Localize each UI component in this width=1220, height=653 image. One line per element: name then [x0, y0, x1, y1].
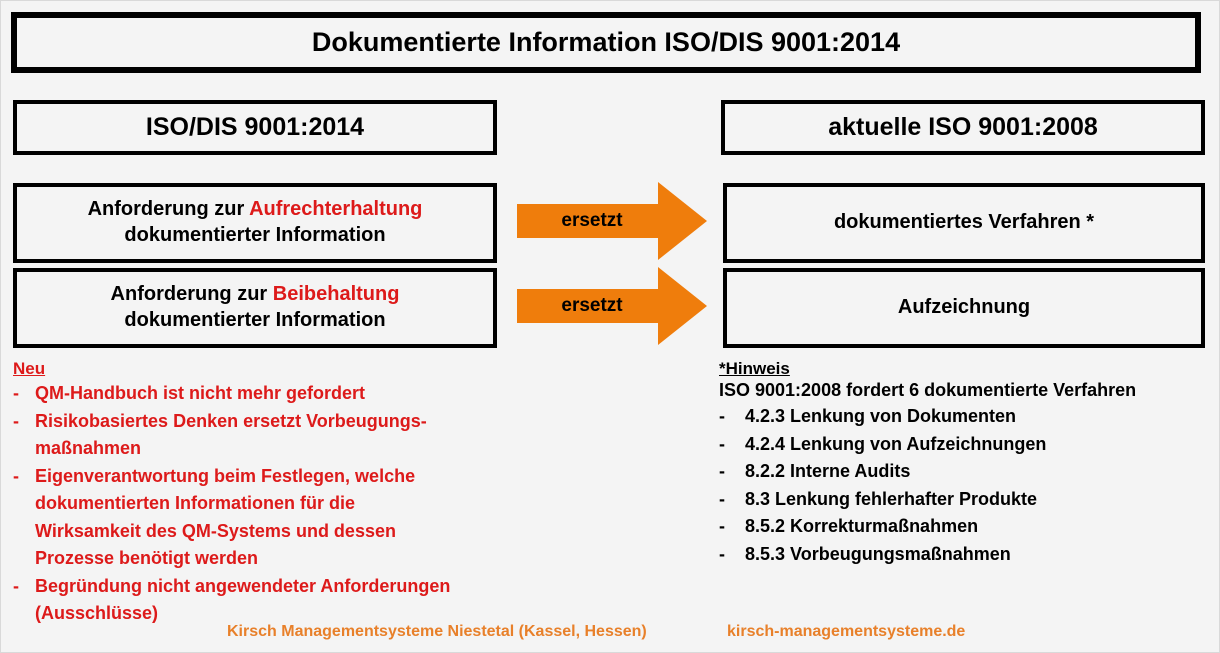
box-left-1-line-1-plain: Anforderung zur [88, 198, 249, 220]
arrow-ersetzt-2: ersetzt [517, 267, 707, 345]
list-bullet-dash: - [13, 573, 35, 601]
list-item-line: 8.3 Lenkung fehlerhafter Produkte [745, 486, 1214, 514]
slide-canvas: Dokumentierte Information ISO/DIS 9001:2… [0, 0, 1220, 653]
list-item: -4.2.3 Lenkung von Dokumenten [719, 403, 1214, 431]
notes-left-column: Neu -QM-Handbuch ist nicht mehr geforder… [13, 359, 513, 628]
list-item-line: Risikobasiertes Denken ersetzt Vorbeugun… [35, 408, 513, 436]
list-item-line: Eigenverantwortung beim Festlegen, welch… [35, 463, 513, 491]
notes-right-heading: *Hinweis [719, 359, 1214, 379]
list-bullet-dash: - [719, 403, 745, 431]
notes-right-subheading: ISO 9001:2008 fordert 6 dokumentierte Ve… [719, 380, 1214, 401]
box-right-2-line-1: Aufzeichnung [898, 295, 1030, 321]
box-left-1-line-1: Anforderung zur Aufrechterhaltung [88, 197, 423, 223]
list-bullet-dash: - [719, 458, 745, 486]
list-bullet-dash: - [719, 431, 745, 459]
list-bullet-dash: - [719, 486, 745, 514]
box-anforderung-beibehaltung: Anforderung zur Beibehaltung dokumentier… [13, 268, 497, 348]
list-item: -8.5.3 Vorbeugungsmaßnahmen [719, 541, 1214, 569]
list-item-line: dokumentierten Informationen für die [35, 490, 513, 518]
list-item-line: 4.2.4 Lenkung von Aufzeichnungen [745, 431, 1214, 459]
list-item-text: 8.5.3 Vorbeugungsmaßnahmen [745, 541, 1214, 569]
list-item-line: Begründung nicht angewendeter Anforderun… [35, 573, 513, 601]
page-title: Dokumentierte Information ISO/DIS 9001:2… [312, 27, 900, 58]
box-left-2-line-1-plain: Anforderung zur [111, 283, 273, 305]
list-item-line: 8.5.2 Korrekturmaßnahmen [745, 513, 1214, 541]
box-left-1-line-2: dokumentierter Information [124, 223, 385, 249]
list-item: -8.2.2 Interne Audits [719, 458, 1214, 486]
arrow-ersetzt-1: ersetzt [517, 182, 707, 260]
column-header-left-label: ISO/DIS 9001:2014 [146, 113, 364, 142]
list-item: -QM-Handbuch ist nicht mehr gefordert [13, 380, 513, 408]
list-item-text: QM-Handbuch ist nicht mehr gefordert [35, 380, 513, 408]
slide-title-box: Dokumentierte Information ISO/DIS 9001:2… [11, 12, 1201, 73]
list-bullet-dash: - [13, 408, 35, 436]
list-item-line: 8.5.3 Vorbeugungsmaßnahmen [745, 541, 1214, 569]
footer-website[interactable]: kirsch-managementsysteme.de [727, 623, 965, 641]
list-item-text: Begründung nicht angewendeter Anforderun… [35, 573, 513, 628]
list-item-line: 4.2.3 Lenkung von Dokumenten [745, 403, 1214, 431]
list-item-text: 4.2.3 Lenkung von Dokumenten [745, 403, 1214, 431]
list-item: -Eigenverantwortung beim Festlegen, welc… [13, 463, 513, 573]
list-bullet-dash: - [13, 380, 35, 408]
list-item-text: Eigenverantwortung beim Festlegen, welch… [35, 463, 513, 573]
column-header-right: aktuelle ISO 9001:2008 [721, 100, 1205, 155]
list-item-text: 8.5.2 Korrekturmaßnahmen [745, 513, 1214, 541]
notes-left-list: -QM-Handbuch ist nicht mehr gefordert-Ri… [13, 380, 513, 628]
list-item-line: QM-Handbuch ist nicht mehr gefordert [35, 380, 513, 408]
list-item-text: 4.2.4 Lenkung von Aufzeichnungen [745, 431, 1214, 459]
footer-company: Kirsch Managementsysteme Niestetal (Kass… [227, 623, 647, 641]
notes-right-list: -4.2.3 Lenkung von Dokumenten-4.2.4 Lenk… [719, 403, 1214, 568]
box-aufzeichnung: Aufzeichnung [723, 268, 1205, 348]
list-item-text: 8.3 Lenkung fehlerhafter Produkte [745, 486, 1214, 514]
list-bullet-dash: - [719, 541, 745, 569]
column-header-left: ISO/DIS 9001:2014 [13, 100, 497, 155]
box-left-2-line-1: Anforderung zur Beibehaltung [111, 282, 400, 308]
box-right-1-line-1: dokumentiertes Verfahren * [834, 210, 1094, 236]
notes-right-column: *Hinweis ISO 9001:2008 fordert 6 dokumen… [719, 359, 1214, 568]
list-item-line: maßnahmen [35, 435, 513, 463]
right-arrow-icon [517, 182, 707, 260]
box-left-1-line-1-highlight: Aufrechterhaltung [249, 198, 422, 220]
box-dokumentiertes-verfahren: dokumentiertes Verfahren * [723, 183, 1205, 263]
list-item-line: Wirksamkeit des QM-Systems und dessen [35, 518, 513, 546]
list-item-text: 8.2.2 Interne Audits [745, 458, 1214, 486]
list-item: -8.5.2 Korrekturmaßnahmen [719, 513, 1214, 541]
list-bullet-dash: - [719, 513, 745, 541]
list-item-line: 8.2.2 Interne Audits [745, 458, 1214, 486]
box-anforderung-aufrechterhaltung: Anforderung zur Aufrechterhaltung dokume… [13, 183, 497, 263]
list-item: -8.3 Lenkung fehlerhafter Produkte [719, 486, 1214, 514]
list-item: -Risikobasiertes Denken ersetzt Vorbeugu… [13, 408, 513, 463]
list-item-text: Risikobasiertes Denken ersetzt Vorbeugun… [35, 408, 513, 463]
list-item-line: Prozesse benötigt werden [35, 545, 513, 573]
list-item: -Begründung nicht angewendeter Anforderu… [13, 573, 513, 628]
box-left-2-line-1-highlight: Beibehaltung [273, 283, 400, 305]
notes-left-heading: Neu [13, 359, 513, 379]
right-arrow-icon [517, 267, 707, 345]
box-left-2-line-2: dokumentierter Information [124, 308, 385, 334]
column-header-right-label: aktuelle ISO 9001:2008 [828, 113, 1098, 142]
list-item: -4.2.4 Lenkung von Aufzeichnungen [719, 431, 1214, 459]
list-bullet-dash: - [13, 463, 35, 491]
